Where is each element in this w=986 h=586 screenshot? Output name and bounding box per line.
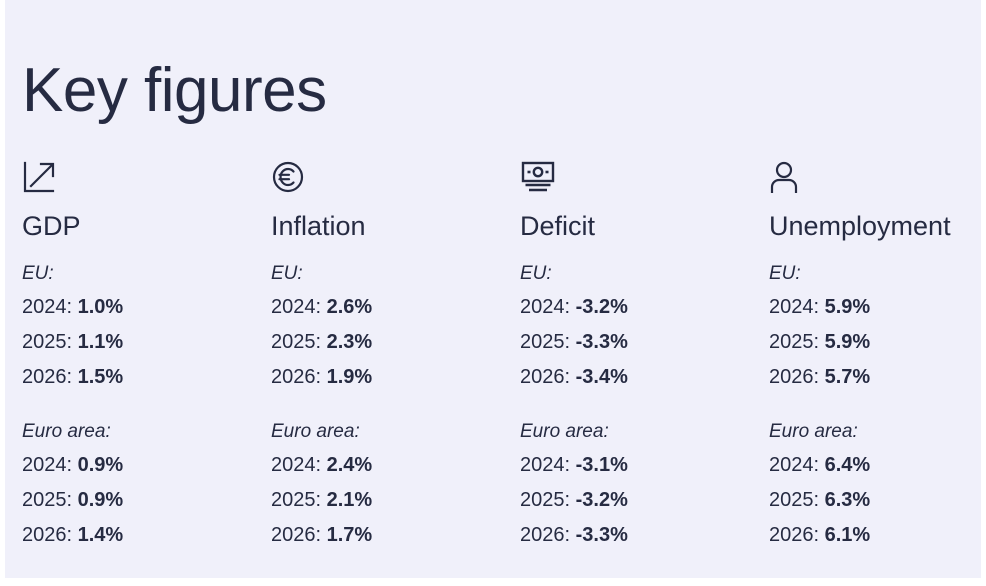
key-figure-group-eu: EU: 2024: 5.9% 2025: 5.9% 2026: 5.7% [769,264,986,387]
key-figure-label: Inflation [271,212,520,242]
row-year: 2026: [769,366,825,388]
key-figure-group-euro-area: Euro area: 2024: 2.4% 2025: 2.1% 2026: 1… [271,422,520,545]
row-year: 2025: [271,331,327,353]
row-year: 2026: [22,366,78,388]
row-value: -3.3% [576,524,628,546]
row-value: -3.1% [576,454,628,476]
row-value: 5.7% [825,366,871,388]
euro-circle-icon [271,160,520,198]
key-figure-group-eu: EU: 2024: 2.6% 2025: 2.3% 2026: 1.9% [271,264,520,387]
row-year: 2025: [769,331,825,353]
row-year: 2026: [271,366,327,388]
row-value: 1.9% [327,366,373,388]
key-figure-column-deficit: Deficit EU: 2024: -3.2% 2025: -3.3% 2026… [520,160,769,545]
key-figure-row: 2024: 6.4% [769,455,986,475]
person-icon [769,160,986,198]
row-year: 2024: [520,454,576,476]
row-value: 1.1% [78,331,124,353]
row-year: 2024: [520,296,576,318]
trending-up-arrow-icon [22,160,271,198]
row-value: 2.1% [327,489,373,511]
key-figure-row: 2024: -3.2% [520,297,769,317]
group-title: EU: [520,264,769,283]
key-figure-label: Unemployment [769,212,986,242]
key-figure-row: 2026: -3.4% [520,367,769,387]
key-figure-column-gdp: GDP EU: 2024: 1.0% 2025: 1.1% 2026: 1.5%… [22,160,271,545]
key-figure-row: 2024: 2.6% [271,297,520,317]
key-figure-group-eu: EU: 2024: 1.0% 2025: 1.1% 2026: 1.5% [22,264,271,387]
key-figures-card: Key figures GDP EU: 2024: 1.0% 2025: [5,0,981,578]
group-title: Euro area: [520,422,769,441]
banknote-icon [520,160,769,198]
key-figure-row: 2025: 6.3% [769,490,986,510]
key-figure-column-unemployment: Unemployment EU: 2024: 5.9% 2025: 5.9% 2… [769,160,986,545]
row-year: 2026: [271,524,327,546]
key-figure-row: 2024: 5.9% [769,297,986,317]
row-value: 5.9% [825,331,871,353]
key-figure-row: 2026: 6.1% [769,525,986,545]
key-figure-column-inflation: Inflation EU: 2024: 2.6% 2025: 2.3% 2026… [271,160,520,545]
page-title: Key figures [22,60,327,122]
key-figure-row: 2025: -3.2% [520,490,769,510]
key-figure-row: 2024: 2.4% [271,455,520,475]
group-title: Euro area: [271,422,520,441]
group-title: EU: [769,264,986,283]
group-title: Euro area: [769,422,986,441]
row-value: 2.6% [327,296,373,318]
row-value: 6.4% [825,454,871,476]
key-figure-label: GDP [22,212,271,242]
row-year: 2025: [520,331,576,353]
row-value: 2.4% [327,454,373,476]
row-year: 2025: [22,331,78,353]
key-figure-row: 2025: 2.1% [271,490,520,510]
key-figure-row: 2024: 1.0% [22,297,271,317]
row-year: 2024: [769,296,825,318]
row-value: -3.2% [576,296,628,318]
key-figure-row: 2026: 1.4% [22,525,271,545]
key-figure-group-euro-area: Euro area: 2024: -3.1% 2025: -3.2% 2026:… [520,422,769,545]
row-year: 2025: [520,489,576,511]
key-figure-row: 2024: -3.1% [520,455,769,475]
row-year: 2025: [769,489,825,511]
key-figure-row: 2026: 1.5% [22,367,271,387]
row-year: 2026: [520,366,576,388]
key-figures-columns: GDP EU: 2024: 1.0% 2025: 1.1% 2026: 1.5%… [22,160,982,545]
row-value: 0.9% [78,454,124,476]
key-figure-row: 2025: 5.9% [769,332,986,352]
row-value: -3.2% [576,489,628,511]
row-year: 2026: [22,524,78,546]
group-title: EU: [22,264,271,283]
row-value: 5.9% [825,296,871,318]
row-value: 1.4% [78,524,124,546]
key-figure-group-euro-area: Euro area: 2024: 0.9% 2025: 0.9% 2026: 1… [22,422,271,545]
key-figure-label: Deficit [520,212,769,242]
row-value: 1.5% [78,366,124,388]
key-figure-row: 2026: 1.7% [271,525,520,545]
row-value: 6.1% [825,524,871,546]
key-figure-row: 2025: -3.3% [520,332,769,352]
row-value: 1.7% [327,524,373,546]
row-value: 2.3% [327,331,373,353]
row-year: 2025: [271,489,327,511]
group-title: EU: [271,264,520,283]
row-year: 2024: [271,296,327,318]
row-value: 1.0% [78,296,124,318]
key-figure-group-eu: EU: 2024: -3.2% 2025: -3.3% 2026: -3.4% [520,264,769,387]
key-figure-row: 2026: 5.7% [769,367,986,387]
key-figure-row: 2025: 1.1% [22,332,271,352]
key-figure-group-euro-area: Euro area: 2024: 6.4% 2025: 6.3% 2026: 6… [769,422,986,545]
row-year: 2025: [22,489,78,511]
row-value: 0.9% [78,489,124,511]
row-year: 2024: [769,454,825,476]
row-year: 2024: [22,454,78,476]
key-figure-row: 2025: 0.9% [22,490,271,510]
row-year: 2026: [520,524,576,546]
row-year: 2026: [769,524,825,546]
row-value: -3.3% [576,331,628,353]
row-year: 2024: [271,454,327,476]
row-year: 2024: [22,296,78,318]
row-value: -3.4% [576,366,628,388]
key-figure-row: 2025: 2.3% [271,332,520,352]
key-figure-row: 2024: 0.9% [22,455,271,475]
key-figure-row: 2026: -3.3% [520,525,769,545]
group-title: Euro area: [22,422,271,441]
row-value: 6.3% [825,489,871,511]
key-figure-row: 2026: 1.9% [271,367,520,387]
